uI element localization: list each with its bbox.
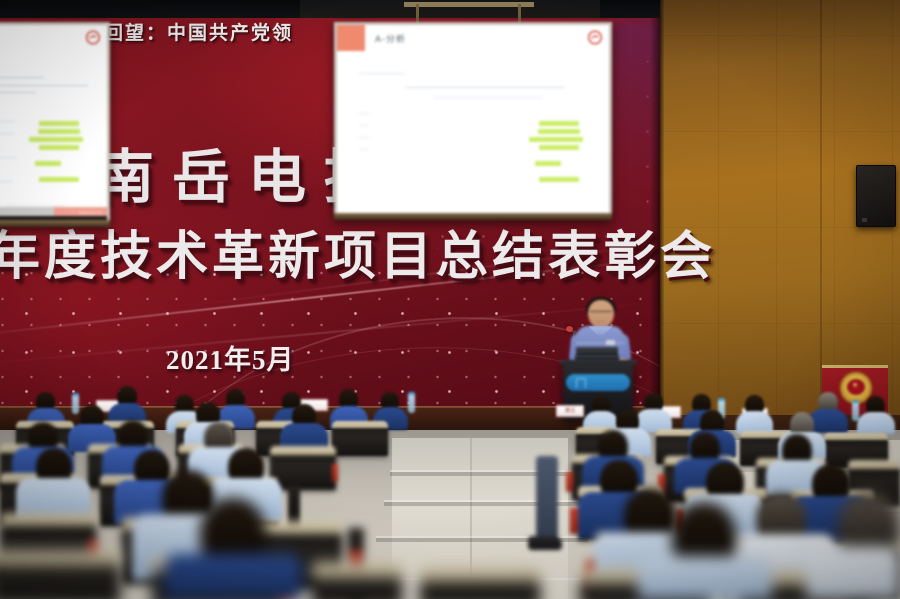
wood-wall-seam-2 [820, 0, 822, 420]
left-projection-screen: www.xxxx.cn [0, 22, 110, 227]
chair-headrest [332, 421, 388, 428]
auditorium-chair[interactable] [332, 424, 388, 456]
left-slide: www.xxxx.cn [0, 25, 107, 224]
chair-armrest [566, 472, 573, 492]
chair-headrest [0, 550, 120, 566]
right-projection-screen: A-分析 [334, 22, 612, 220]
screen-mount-bar [404, 2, 534, 7]
screen-mount-rod-left [416, 4, 419, 23]
auditorium-photo: 回望：中国共产党领 南岳电控 年度技术革新项目总结表彰会 2021年5月 [0, 0, 900, 599]
chair-headrest [270, 446, 336, 455]
chair-headrest [420, 566, 540, 582]
right-slide-title: A-分析 [375, 32, 406, 45]
presenter-badge [606, 340, 615, 345]
banner-date: 2021年5月 [166, 338, 295, 377]
microphone-head-icon [566, 326, 573, 332]
left-screen-surface: www.xxxx.cn [0, 25, 107, 224]
right-slide: A-分析 [337, 25, 609, 217]
name-card: 黄汉 [556, 405, 584, 417]
chair-headrest [312, 562, 402, 578]
company-logo-icon [85, 30, 101, 45]
right-screen-bottom-bar [334, 213, 612, 220]
water-bottle [72, 393, 79, 414]
chair-headrest [824, 433, 888, 440]
wall-speaker-port [862, 218, 867, 222]
chair-headrest [848, 460, 900, 469]
left-screen-bottom-bar [0, 220, 110, 227]
glasses-icon [590, 311, 612, 317]
emblem-star-icon: ★ [852, 382, 858, 389]
chair-headrest [0, 513, 96, 526]
right-screen-surface: A-分析 [337, 25, 609, 217]
water-bottle [852, 400, 859, 421]
company-logo-icon [587, 30, 603, 45]
chair-armrest [570, 508, 578, 534]
right-slide-accent-block [337, 25, 365, 51]
water-bottle [408, 392, 415, 413]
left-slide-url: www.xxxx.cn [79, 210, 102, 215]
podium-logo-icon [576, 378, 586, 388]
chair-armrest [332, 464, 338, 482]
screen-mount-rod-right [518, 4, 521, 23]
presenter-uniform-stripe [576, 342, 624, 344]
wood-wall-seam [660, 0, 664, 420]
